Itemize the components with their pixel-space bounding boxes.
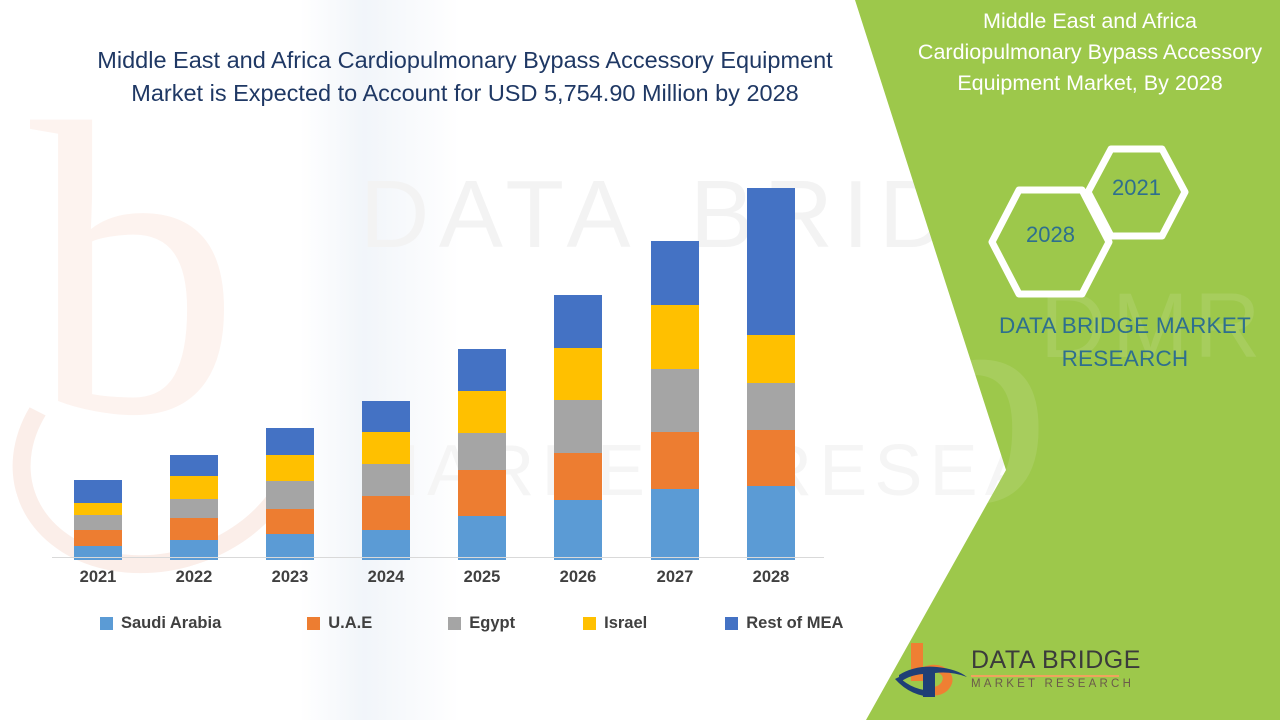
x-tick-2022: 2022 <box>149 568 239 587</box>
bar-segment-2023-u-a-e[interactable] <box>266 509 314 534</box>
bar-segment-2027-u-a-e[interactable] <box>651 432 699 489</box>
stacked-bar-chart <box>52 140 824 560</box>
panel-brand-text: DATA BRIDGE MARKET RESEARCH <box>955 310 1280 375</box>
bar-segment-2027-israel[interactable] <box>651 305 699 369</box>
legend-swatch-icon <box>583 617 596 630</box>
bar-segment-2023-israel[interactable] <box>266 455 314 481</box>
legend-item-israel[interactable]: Israel <box>583 614 647 633</box>
hexagon-2021-label: 2021 <box>1084 175 1189 201</box>
x-tick-2021: 2021 <box>53 568 143 587</box>
legend-label: U.A.E <box>328 614 372 633</box>
legend-swatch-icon <box>448 617 461 630</box>
bar-segment-2021-rest-of-mea[interactable] <box>74 480 122 503</box>
legend-item-egypt[interactable]: Egypt <box>448 614 515 633</box>
bar-segment-2026-israel[interactable] <box>554 348 602 400</box>
legend-label: Egypt <box>469 614 515 633</box>
chart-title: Middle East and Africa Cardiopulmonary B… <box>60 44 870 111</box>
legend-swatch-icon <box>100 617 113 630</box>
chart-legend: Saudi ArabiaU.A.EEgyptIsraelRest of MEA <box>100 614 843 633</box>
bar-segment-2025-israel[interactable] <box>458 391 506 433</box>
bar-segment-2022-israel[interactable] <box>170 476 218 499</box>
bar-segment-2027-rest-of-mea[interactable] <box>651 241 699 305</box>
bar-segment-2022-egypt[interactable] <box>170 499 218 518</box>
bar-segment-2028-rest-of-mea[interactable] <box>747 188 795 335</box>
bar-segment-2028-israel[interactable] <box>747 335 795 383</box>
legend-label: Israel <box>604 614 647 633</box>
bar-2026[interactable] <box>554 143 602 560</box>
logo-divider <box>971 675 1119 677</box>
slide-canvas: b DATA BRIDGE MARKET RESEARCH Middle Eas… <box>0 0 1280 720</box>
bar-segment-2024-rest-of-mea[interactable] <box>362 401 410 432</box>
bar-segment-2021-israel[interactable] <box>74 503 122 515</box>
data-bridge-mark-icon <box>893 641 969 701</box>
bar-segment-2024-egypt[interactable] <box>362 464 410 496</box>
bar-segment-2025-saudi-arabia[interactable] <box>458 516 506 560</box>
bar-segment-2025-u-a-e[interactable] <box>458 470 506 516</box>
x-tick-2026: 2026 <box>533 568 623 587</box>
logo-subtitle: MARKET RESEARCH <box>971 678 1134 690</box>
data-bridge-logo: DATA BRIDGE MARKET RESEARCH <box>893 641 1123 705</box>
x-tick-2025: 2025 <box>437 568 527 587</box>
bar-2027[interactable] <box>651 143 699 560</box>
legend-item-u-a-e[interactable]: U.A.E <box>307 614 372 633</box>
hexagon-2021: 2021 <box>1084 145 1189 245</box>
bar-2021[interactable] <box>74 143 122 560</box>
x-tick-2023: 2023 <box>245 568 335 587</box>
x-tick-2027: 2027 <box>630 568 720 587</box>
x-axis-line <box>52 557 824 558</box>
x-tick-2024: 2024 <box>341 568 431 587</box>
bar-2024[interactable] <box>362 143 410 560</box>
bar-segment-2026-u-a-e[interactable] <box>554 453 602 500</box>
bar-segment-2026-saudi-arabia[interactable] <box>554 500 602 560</box>
bar-2025[interactable] <box>458 143 506 560</box>
bar-segment-2024-u-a-e[interactable] <box>362 496 410 530</box>
legend-swatch-icon <box>725 617 738 630</box>
bar-segment-2024-israel[interactable] <box>362 432 410 464</box>
bar-segment-2023-egypt[interactable] <box>266 481 314 509</box>
bar-segment-2025-rest-of-mea[interactable] <box>458 349 506 391</box>
panel-title: Middle East and Africa Cardiopulmonary B… <box>905 6 1275 99</box>
x-axis-tick-labels: 20212022202320242025202620272028 <box>52 568 824 596</box>
bar-2023[interactable] <box>266 143 314 560</box>
bar-segment-2022-rest-of-mea[interactable] <box>170 455 218 476</box>
bar-segment-2026-rest-of-mea[interactable] <box>554 295 602 348</box>
bar-2028[interactable] <box>747 143 795 560</box>
bar-segment-2022-u-a-e[interactable] <box>170 518 218 540</box>
bar-segment-2028-egypt[interactable] <box>747 383 795 430</box>
bar-2022[interactable] <box>170 143 218 560</box>
bar-segment-2027-egypt[interactable] <box>651 369 699 432</box>
bar-segment-2023-rest-of-mea[interactable] <box>266 428 314 455</box>
legend-swatch-icon <box>307 617 320 630</box>
bar-segment-2021-egypt[interactable] <box>74 515 122 530</box>
bar-segment-2025-egypt[interactable] <box>458 433 506 470</box>
bar-segment-2028-saudi-arabia[interactable] <box>747 486 795 560</box>
bar-segment-2024-saudi-arabia[interactable] <box>362 530 410 560</box>
legend-label: Rest of MEA <box>746 614 843 633</box>
legend-label: Saudi Arabia <box>121 614 221 633</box>
x-tick-2028: 2028 <box>726 568 816 587</box>
legend-item-saudi-arabia[interactable]: Saudi Arabia <box>100 614 221 633</box>
bar-segment-2027-saudi-arabia[interactable] <box>651 489 699 560</box>
bar-segment-2026-egypt[interactable] <box>554 400 602 453</box>
bar-segment-2021-u-a-e[interactable] <box>74 530 122 546</box>
logo-title: DATA BRIDGE <box>971 646 1141 675</box>
legend-item-rest-of-mea[interactable]: Rest of MEA <box>725 614 843 633</box>
bar-segment-2028-u-a-e[interactable] <box>747 430 795 486</box>
